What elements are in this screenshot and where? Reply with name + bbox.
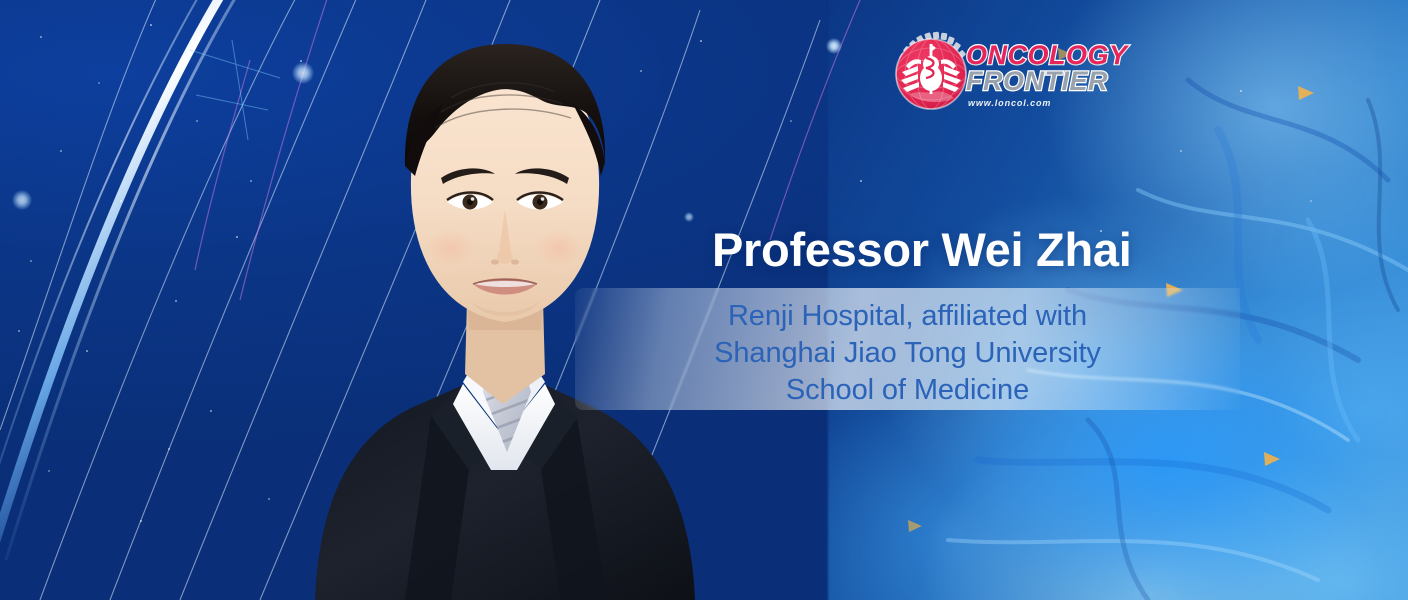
logo-wordmark: ONCOLOGY FRONTIER www.loncol.com [966, 34, 1114, 116]
affiliation-line-2: Shanghai Jiao Tong University [575, 335, 1240, 372]
crab-caduceus-emblem-icon [888, 28, 974, 114]
affiliation-line-3: School of Medicine [575, 372, 1240, 409]
affiliation-text: Renji Hospital, affiliated with Shanghai… [575, 298, 1240, 409]
affiliation-line-1: Renji Hospital, affiliated with [575, 298, 1240, 335]
logo-url: www.loncol.com [968, 98, 1051, 108]
logo-line-frontier: FRONTIER [966, 68, 1108, 95]
oncology-frontier-logo[interactable]: ONCOLOGY FRONTIER www.loncol.com [888, 26, 1114, 118]
logo-line-oncology: ONCOLOGY [966, 42, 1128, 69]
speaker-banner: Professor Wei Zhai Renji Hospital, affil… [0, 0, 1408, 600]
page-title: Professor Wei Zhai [712, 222, 1131, 277]
